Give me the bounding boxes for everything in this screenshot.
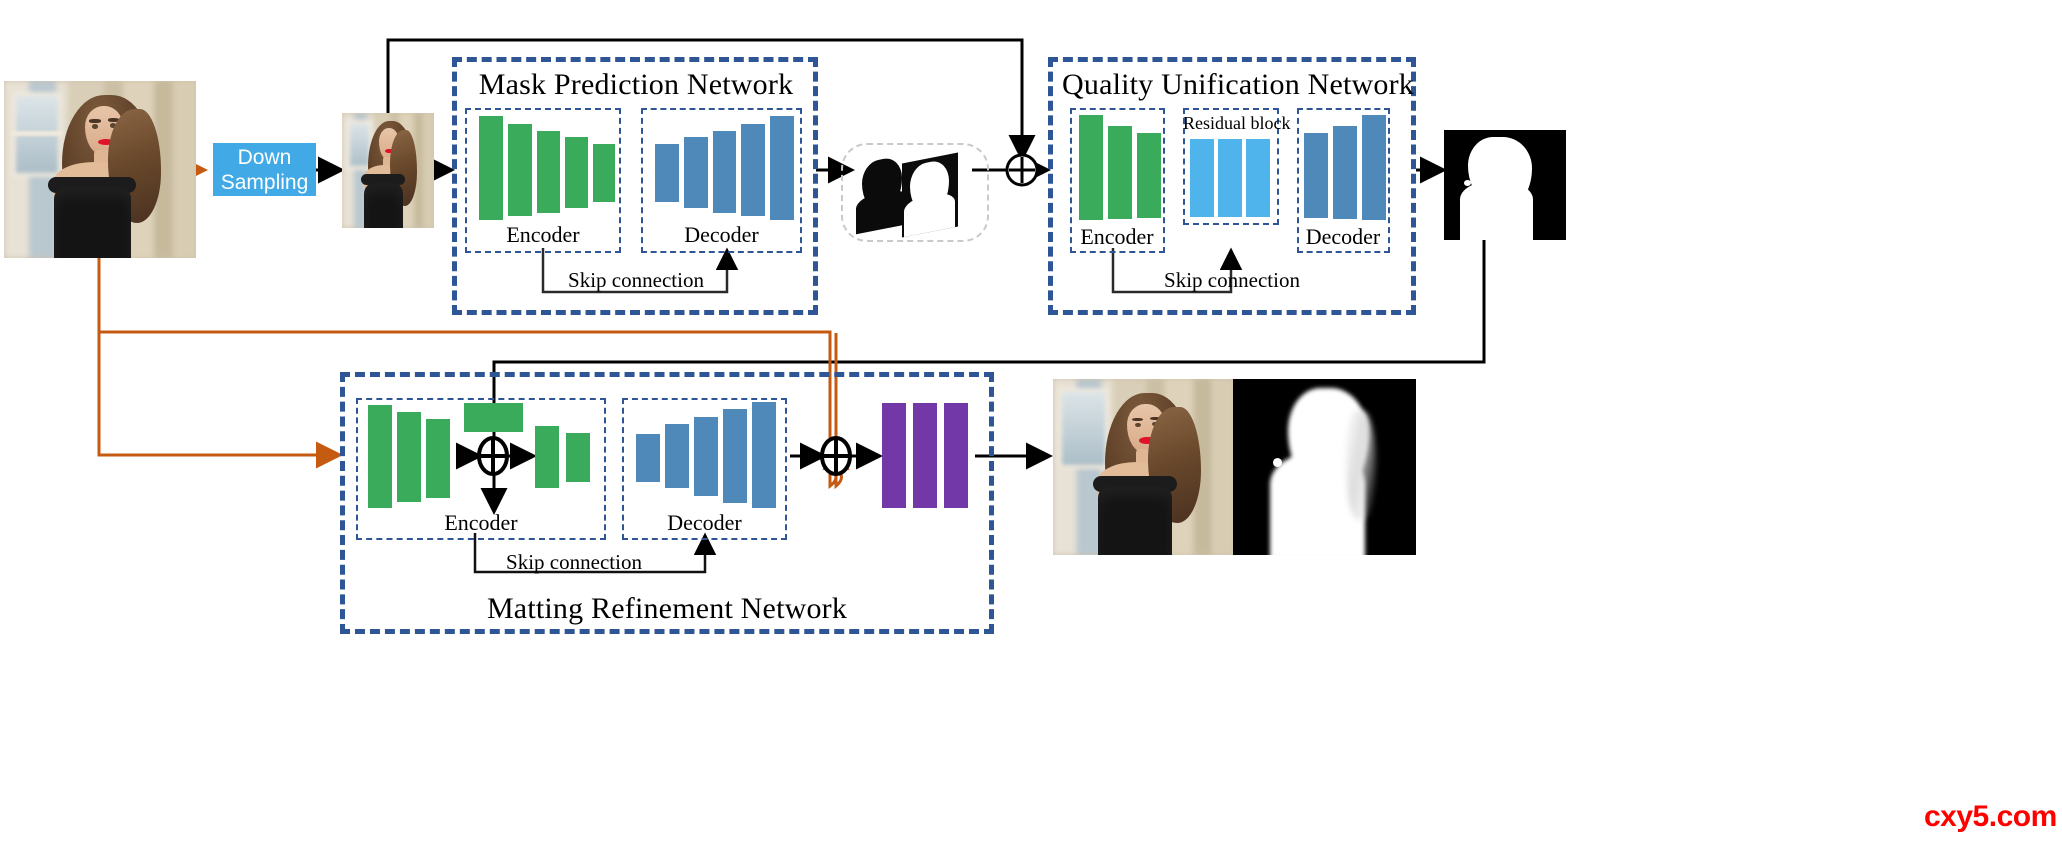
output-bar xyxy=(913,403,937,508)
photo-dress xyxy=(54,187,131,258)
photo-eye-l xyxy=(92,124,98,128)
encoder-bar xyxy=(565,137,588,208)
mask-prediction-encoder-label: Encoder xyxy=(465,222,621,248)
matting-skip-label: Skip connection xyxy=(478,550,670,575)
decoder-bar xyxy=(665,424,689,488)
encoder-bar xyxy=(368,405,392,508)
encoder-bar xyxy=(479,116,503,220)
down-sampling-button[interactable]: Down Sampling xyxy=(213,143,316,196)
decoder-bar xyxy=(655,144,679,202)
alpha-matte-hair-strands xyxy=(1346,411,1375,520)
encoder-bar xyxy=(397,412,421,502)
unified-binary-mask-image xyxy=(1444,130,1566,240)
refined-portrait-image xyxy=(1053,379,1233,555)
quality-residual-label: Residual block xyxy=(1183,113,1279,134)
unified-mask-notch xyxy=(1464,180,1471,187)
sum-operator-1 xyxy=(1007,155,1037,185)
refined-alpha-matte-image xyxy=(1233,379,1416,555)
connection-lines xyxy=(0,0,2062,842)
decoder-bar xyxy=(684,137,708,208)
down-sampling-line2: Sampling xyxy=(221,170,309,195)
decoder-bar xyxy=(723,409,747,503)
decoder-bar xyxy=(741,124,765,216)
skip-feature-bar xyxy=(464,403,523,432)
matting-encoder-label: Encoder xyxy=(356,510,606,536)
diagram-canvas: Down Sampling Mask Prediction Network En… xyxy=(0,0,2062,842)
photo-dress xyxy=(364,182,403,228)
down-sampling-line1: Down xyxy=(238,145,292,170)
decoder-bar xyxy=(636,434,660,482)
decoder-bar xyxy=(752,402,776,508)
downsampled-portrait-image xyxy=(342,113,434,228)
quality-skip-label: Skip connection xyxy=(1136,268,1328,293)
input-portrait-image xyxy=(4,81,196,258)
mask-prediction-network-title: Mask Prediction Network xyxy=(475,68,797,102)
encoder-bar xyxy=(508,124,532,216)
edge-input-to-matting xyxy=(99,258,340,455)
residual-bar xyxy=(1246,139,1270,217)
photo-eye-l xyxy=(1135,423,1141,427)
photo-dress xyxy=(1098,486,1172,555)
encoder-bar xyxy=(535,426,559,488)
quality-encoder-label: Encoder xyxy=(1068,224,1166,250)
encoder-bar xyxy=(1079,115,1103,220)
mask-prediction-decoder-label: Decoder xyxy=(641,222,802,248)
decoder-bar xyxy=(1304,133,1328,218)
quality-decoder-label: Decoder xyxy=(1295,224,1391,250)
decoder-bar xyxy=(694,417,718,496)
decoder-bar xyxy=(713,131,736,213)
mask-prediction-skip-label: Skip connection xyxy=(540,268,732,293)
encoder-bar xyxy=(426,419,450,498)
quality-unification-network-title: Quality Unification Network xyxy=(1062,68,1404,102)
residual-bar xyxy=(1218,139,1242,217)
encoder-bar xyxy=(1108,126,1132,219)
residual-bar xyxy=(1190,139,1214,217)
encoder-bar xyxy=(537,131,560,213)
photo-window xyxy=(1058,388,1108,469)
encoder-bar xyxy=(1137,133,1161,218)
matting-refinement-network-title: Matting Refinement Network xyxy=(360,592,974,626)
photo-window-bar xyxy=(12,131,62,136)
coarse-mask-inverted xyxy=(902,153,958,238)
decoder-bar xyxy=(1362,115,1386,220)
decoder-bar xyxy=(1333,126,1357,219)
output-bar xyxy=(882,403,906,508)
unified-mask-body xyxy=(1460,181,1533,240)
watermark: cxy5.com xyxy=(1924,800,2057,834)
matting-decoder-label: Decoder xyxy=(622,510,787,536)
photo-brow-l xyxy=(89,119,101,123)
encoder-bar xyxy=(593,144,615,202)
output-bar xyxy=(944,403,968,508)
encoder-bar xyxy=(566,433,590,482)
decoder-bar xyxy=(770,116,794,220)
